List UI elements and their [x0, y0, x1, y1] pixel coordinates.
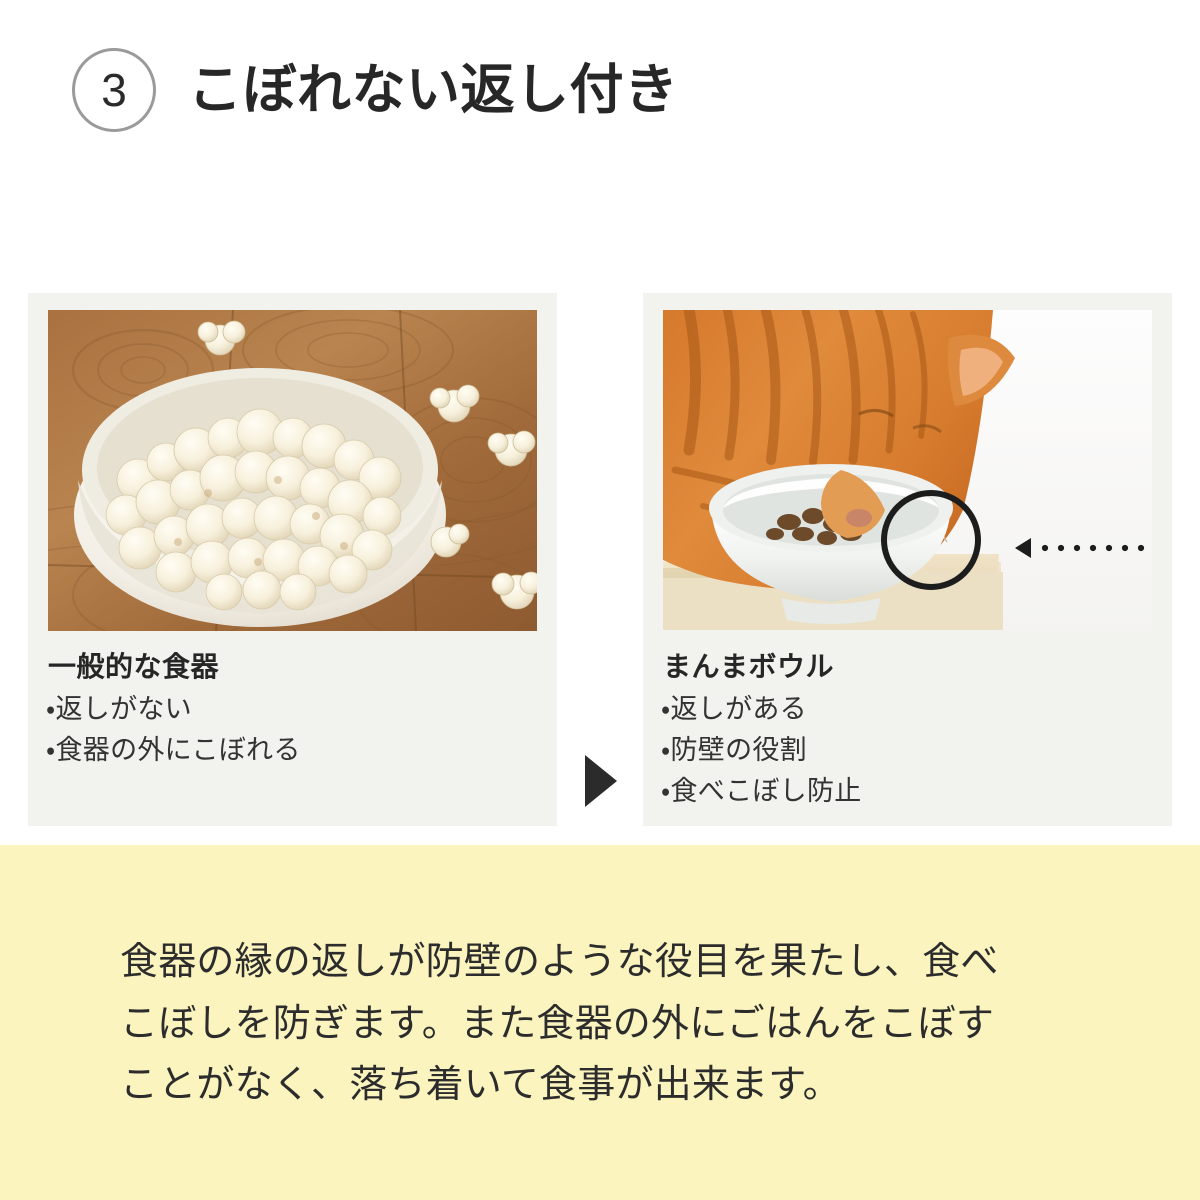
list-item: ・防壁の役割: [661, 730, 862, 771]
list-item: ・返しがある: [661, 689, 862, 730]
description-line: ことがなく、落ち着いて食事が出来ます。: [120, 1055, 1120, 1117]
feature-list-general-bowl: ・返しがない ・食器の外にこぼれる: [46, 689, 301, 771]
panel-label-manma-bowl: まんまボウル: [663, 645, 834, 685]
description-line: 食器の縁の返しが防壁のような役目を果たし、食べ: [120, 932, 1120, 994]
page-header: 3 こぼれない返し付き: [0, 0, 1200, 180]
list-item: ・食器の外にこぼれる: [46, 730, 301, 771]
right-triangle-arrow-icon: [585, 755, 617, 807]
circled-number-icon: 3: [101, 63, 127, 117]
description-text: 食器の縁の返しが防壁のような役目を果たし、食べ こぼしを防ぎます。また食器の外に…: [120, 932, 1120, 1117]
list-item: ・返しがない: [46, 689, 301, 730]
description-band: 食器の縁の返しが防壁のような役目を果たし、食べ こぼしを防ぎます。また食器の外に…: [0, 845, 1200, 1200]
step-number-badge: 3: [72, 48, 156, 132]
list-item: ・食べこぼし防止: [661, 771, 862, 812]
feature-list-manma-bowl: ・返しがある ・防壁の役割 ・食べこぼし防止: [661, 689, 862, 812]
cat-eating-bowl-photo: [663, 310, 1152, 631]
comparison-panel-general-bowl: 一般的な食器 ・返しがない ・食器の外にこぼれる: [28, 293, 557, 826]
comparison-panel-manma-bowl: まんまボウル ・返しがある ・防壁の役割 ・食べこぼし防止: [643, 293, 1172, 826]
panel-label-general-bowl: 一般的な食器: [48, 645, 219, 685]
description-line: こぼしを防ぎます。また食器の外にごはんをこぼす: [120, 994, 1120, 1056]
page-title: こぼれない返し付き: [188, 63, 679, 117]
comparison-section: 一般的な食器 ・返しがない ・食器の外にこぼれる: [0, 293, 1200, 826]
popcorn-bowl-photo: [48, 310, 537, 631]
